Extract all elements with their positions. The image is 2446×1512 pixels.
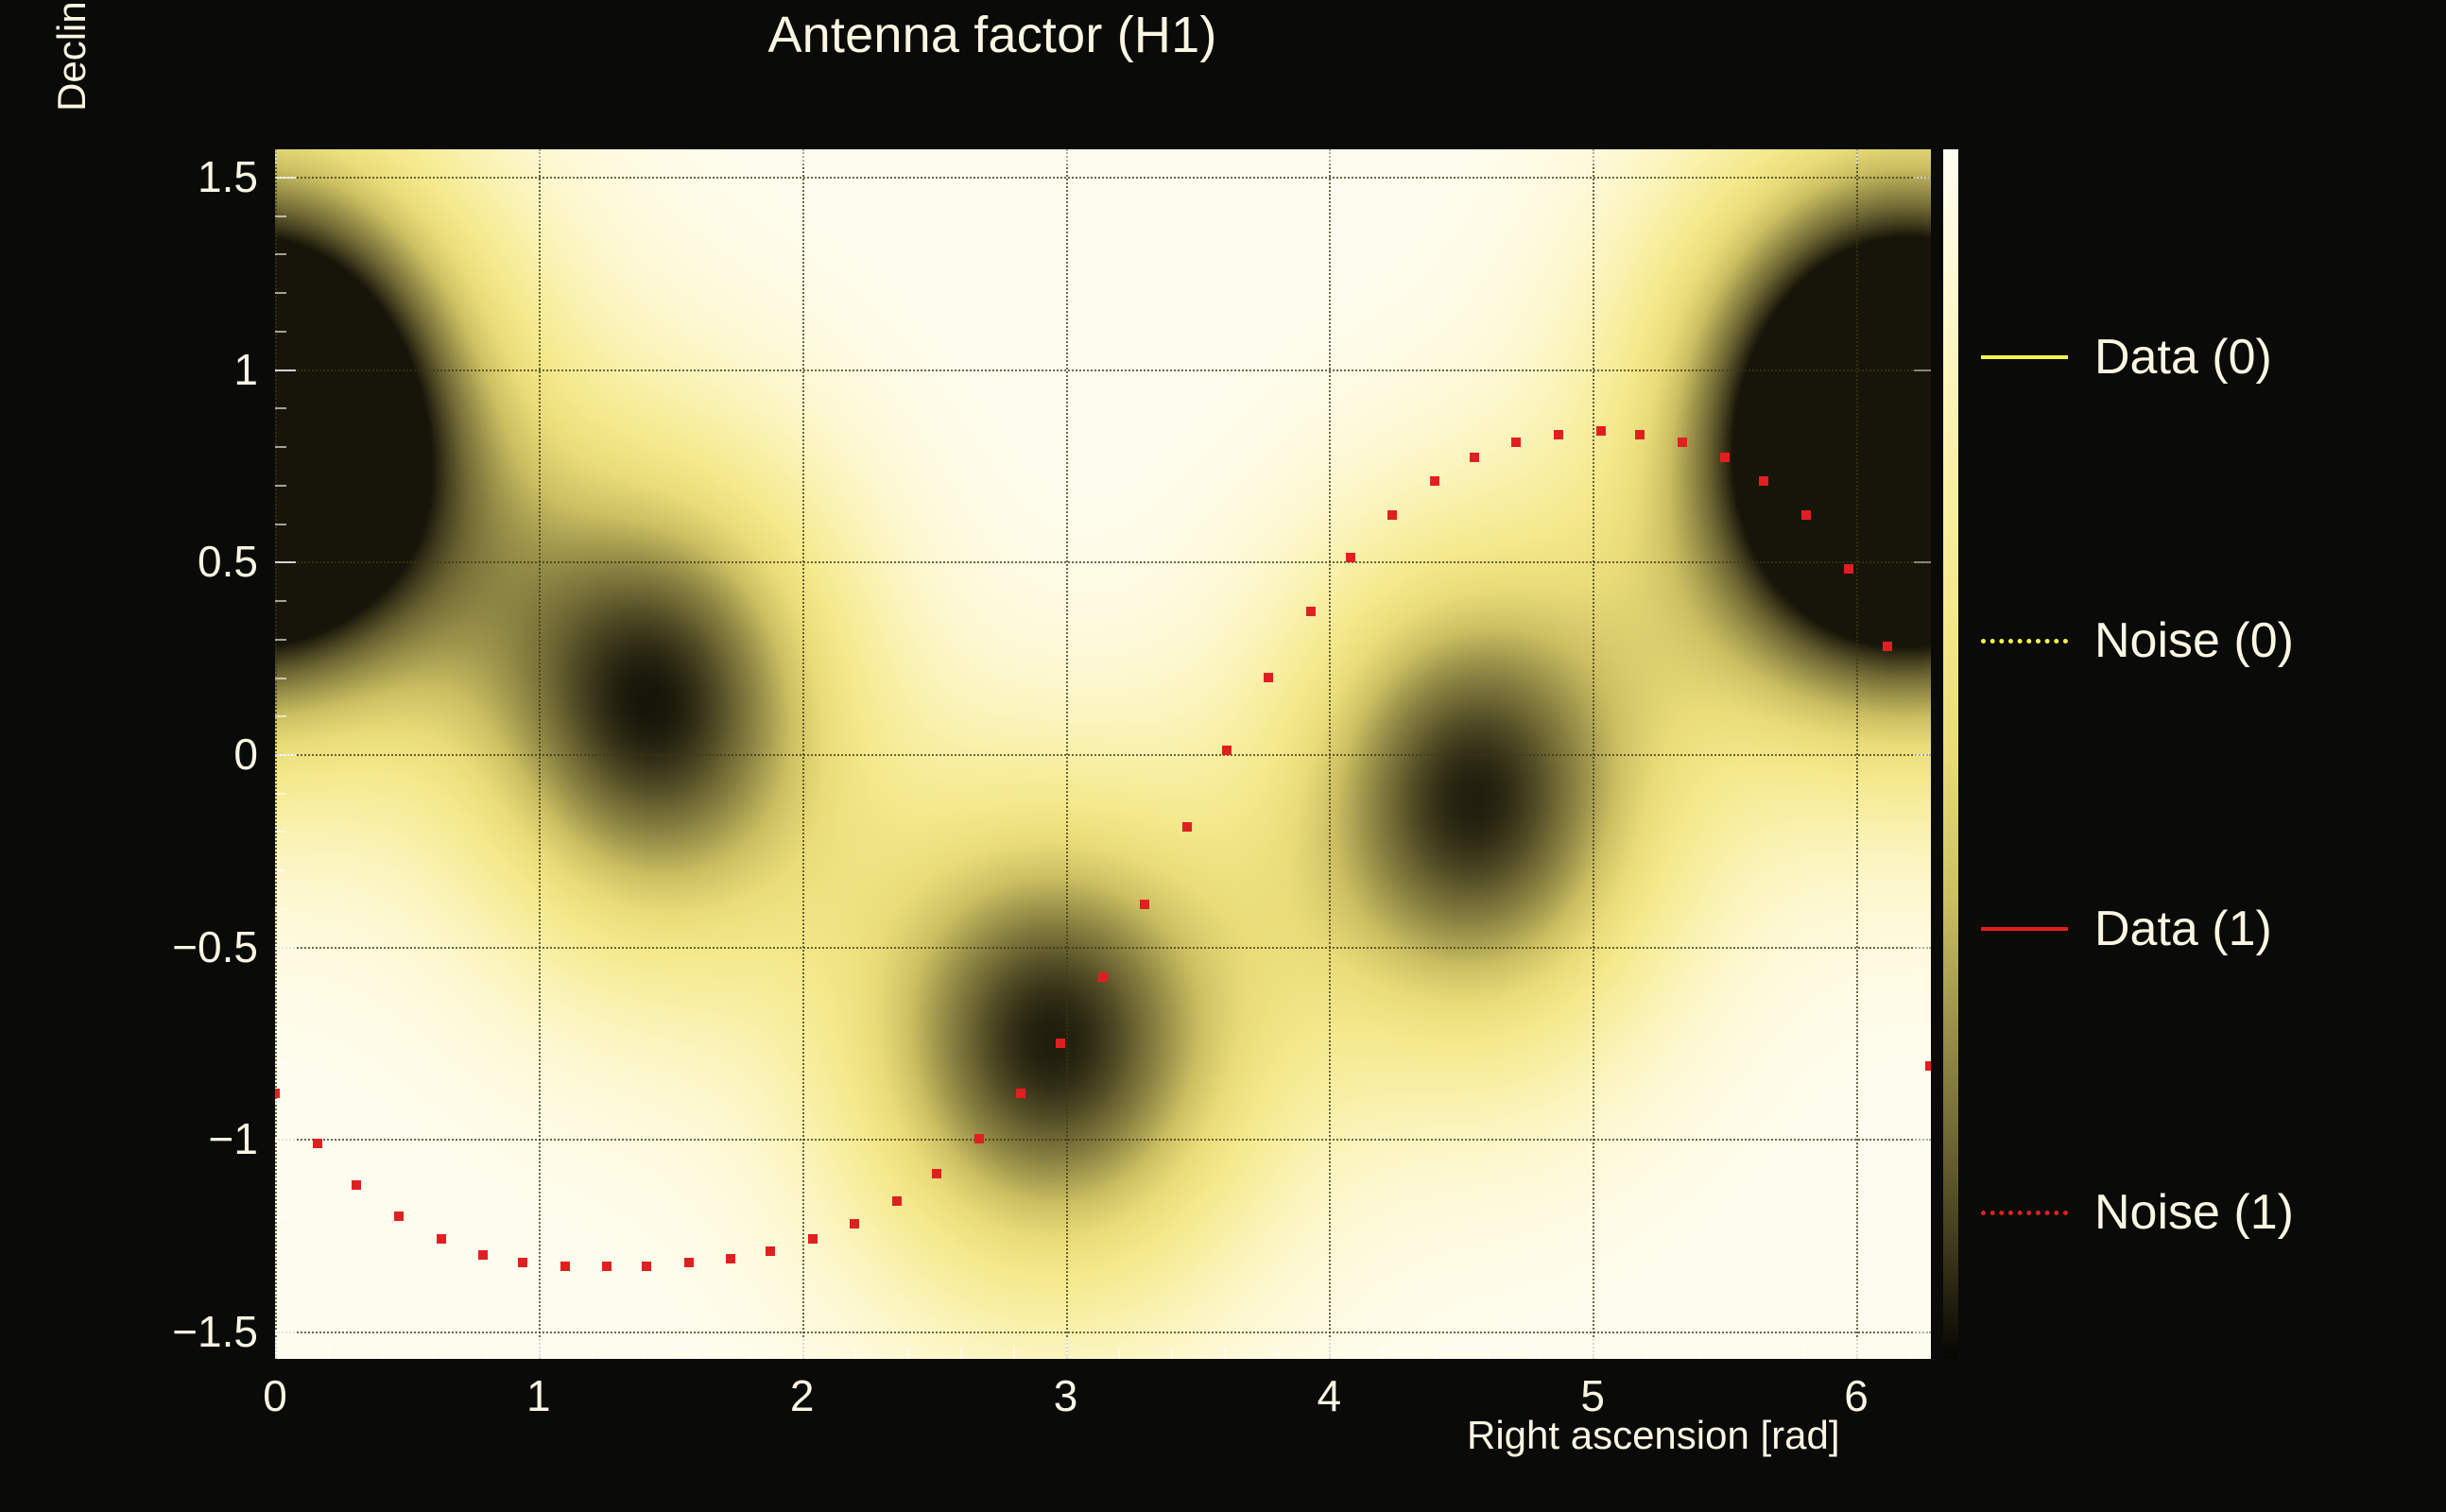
- y-tick-minor: [275, 639, 286, 641]
- y-axis-title: Declination [rad]: [49, 0, 95, 112]
- y-tick-label: 0: [233, 729, 258, 780]
- x-tick-minor: [1909, 1348, 1911, 1359]
- x-tick-minor: [1171, 1348, 1173, 1359]
- legend: Data (0)Noise (0)Data (1)Noise (1): [1981, 149, 2425, 1359]
- x-tick-major: [539, 1338, 541, 1359]
- y-tick-label: 1: [233, 344, 258, 395]
- y-tick-minor: [275, 600, 286, 602]
- y-tick-minor: [275, 215, 286, 217]
- y-tick-minor: [275, 908, 286, 910]
- x-tick-major: [1593, 1338, 1594, 1359]
- x-tick-top: [275, 149, 277, 164]
- y-tick-right: [1914, 369, 1931, 371]
- y-tick-minor: [275, 524, 286, 525]
- legend-label: Data (1): [2094, 904, 2272, 954]
- x-tick-minor: [907, 1348, 909, 1359]
- y-tick-major: [275, 369, 296, 371]
- x-tick-minor: [1224, 1348, 1226, 1359]
- x-tick-major: [1329, 1338, 1331, 1359]
- y-tick-label: 1.5: [198, 151, 258, 202]
- y-tick-minor: [275, 1216, 286, 1218]
- y-tick-label: −1: [209, 1113, 258, 1164]
- x-tick-label: 2: [790, 1370, 815, 1421]
- y-tick-label: −1.5: [172, 1306, 258, 1357]
- legend-swatch-dotted-icon: [1981, 639, 2068, 644]
- x-tick-major: [1856, 1338, 1858, 1359]
- y-tick-minor: [275, 869, 286, 871]
- y-tick-minor: [275, 715, 286, 717]
- x-tick-major: [802, 1338, 804, 1359]
- y-tick-label: 0.5: [198, 536, 258, 587]
- y-tick-minor: [275, 831, 286, 833]
- x-tick-major: [275, 1338, 277, 1359]
- x-tick-top: [1856, 149, 1858, 164]
- legend-entry[interactable]: Data (0): [1981, 329, 2425, 386]
- y-tick-right: [1914, 1332, 1931, 1333]
- legend-entry[interactable]: Noise (1): [1981, 1184, 2425, 1241]
- y-tick-minor: [275, 253, 286, 255]
- y-tick-major: [275, 561, 296, 563]
- legend-label: Data (0): [2094, 333, 2272, 382]
- x-tick-label: 0: [263, 1370, 287, 1421]
- x-tick-minor: [1698, 1348, 1700, 1359]
- y-tick-right: [1914, 947, 1931, 949]
- x-tick-label: 1: [526, 1370, 551, 1421]
- x-tick-minor: [592, 1348, 594, 1359]
- y-tick-label: −0.5: [172, 921, 258, 972]
- x-tick-minor: [697, 1348, 698, 1359]
- legend-swatch-solid-icon: [1981, 355, 2068, 359]
- x-axis-title: Right ascension [rad]: [1467, 1413, 1840, 1458]
- x-tick-minor: [1118, 1348, 1120, 1359]
- x-tick-minor: [1645, 1348, 1647, 1359]
- x-tick-minor: [1277, 1348, 1279, 1359]
- x-tick-minor: [1540, 1348, 1542, 1359]
- y-tick-minor: [275, 1101, 286, 1103]
- y-tick-major: [275, 177, 296, 179]
- x-tick-label: 4: [1318, 1370, 1342, 1421]
- legend-label: Noise (0): [2094, 616, 2294, 665]
- x-tick-minor: [1803, 1348, 1805, 1359]
- x-tick-minor: [960, 1348, 962, 1359]
- x-tick-top: [1066, 149, 1068, 164]
- y-tick-minor: [275, 1177, 286, 1179]
- x-tick-minor: [644, 1348, 646, 1359]
- x-tick-minor: [1751, 1348, 1753, 1359]
- x-tick-top: [539, 149, 541, 164]
- y-tick-minor: [275, 485, 286, 487]
- legend-swatch-solid-icon: [1981, 927, 2068, 931]
- y-tick-major: [275, 754, 296, 756]
- x-tick-minor: [381, 1348, 383, 1359]
- colorbar[interactable]: [1943, 149, 1958, 1359]
- y-tick-minor: [275, 678, 286, 679]
- x-tick-minor: [433, 1348, 435, 1359]
- heatmap-plot-area[interactable]: [275, 149, 1931, 1359]
- x-tick-minor: [1488, 1348, 1490, 1359]
- x-tick-minor: [1013, 1348, 1015, 1359]
- x-tick-minor: [1382, 1348, 1384, 1359]
- x-tick-minor: [749, 1348, 751, 1359]
- y-tick-minor: [275, 292, 286, 294]
- x-tick-label: 6: [1844, 1370, 1869, 1421]
- legend-entry[interactable]: Data (1): [1981, 901, 2425, 957]
- legend-label: Noise (1): [2094, 1188, 2294, 1237]
- y-tick-minor: [275, 407, 286, 409]
- axis-tick-marks: [275, 149, 1931, 1359]
- y-tick-right: [1914, 1139, 1931, 1141]
- y-tick-minor: [275, 446, 286, 448]
- y-tick-minor: [275, 331, 286, 333]
- y-tick-minor: [275, 1293, 286, 1295]
- y-tick-right: [1914, 561, 1931, 563]
- y-tick-right: [1914, 177, 1931, 179]
- plot-canvas: Antenna factor (H1) 1.510.50−0.5−1−1.5 0…: [0, 0, 2446, 1512]
- y-tick-right: [1914, 754, 1931, 756]
- page-title: Antenna factor (H1): [0, 6, 1985, 64]
- x-tick-top: [1329, 149, 1331, 164]
- x-tick-label: 3: [1054, 1370, 1078, 1421]
- y-tick-major: [275, 1139, 296, 1141]
- x-tick-minor: [854, 1348, 856, 1359]
- x-tick-top: [1593, 149, 1594, 164]
- y-tick-minor: [275, 1255, 286, 1257]
- legend-entry[interactable]: Noise (0): [1981, 612, 2425, 669]
- x-tick-major: [1066, 1338, 1068, 1359]
- legend-swatch-dotted-icon: [1981, 1211, 2068, 1215]
- y-tick-minor: [275, 1023, 286, 1025]
- y-tick-minor: [275, 793, 286, 795]
- x-tick-minor: [328, 1348, 330, 1359]
- y-tick-minor: [275, 1062, 286, 1064]
- y-tick-major: [275, 1332, 296, 1333]
- x-tick-minor: [486, 1348, 488, 1359]
- y-tick-major: [275, 947, 296, 949]
- x-tick-top: [802, 149, 804, 164]
- x-tick-minor: [1435, 1348, 1437, 1359]
- y-tick-minor: [275, 985, 286, 987]
